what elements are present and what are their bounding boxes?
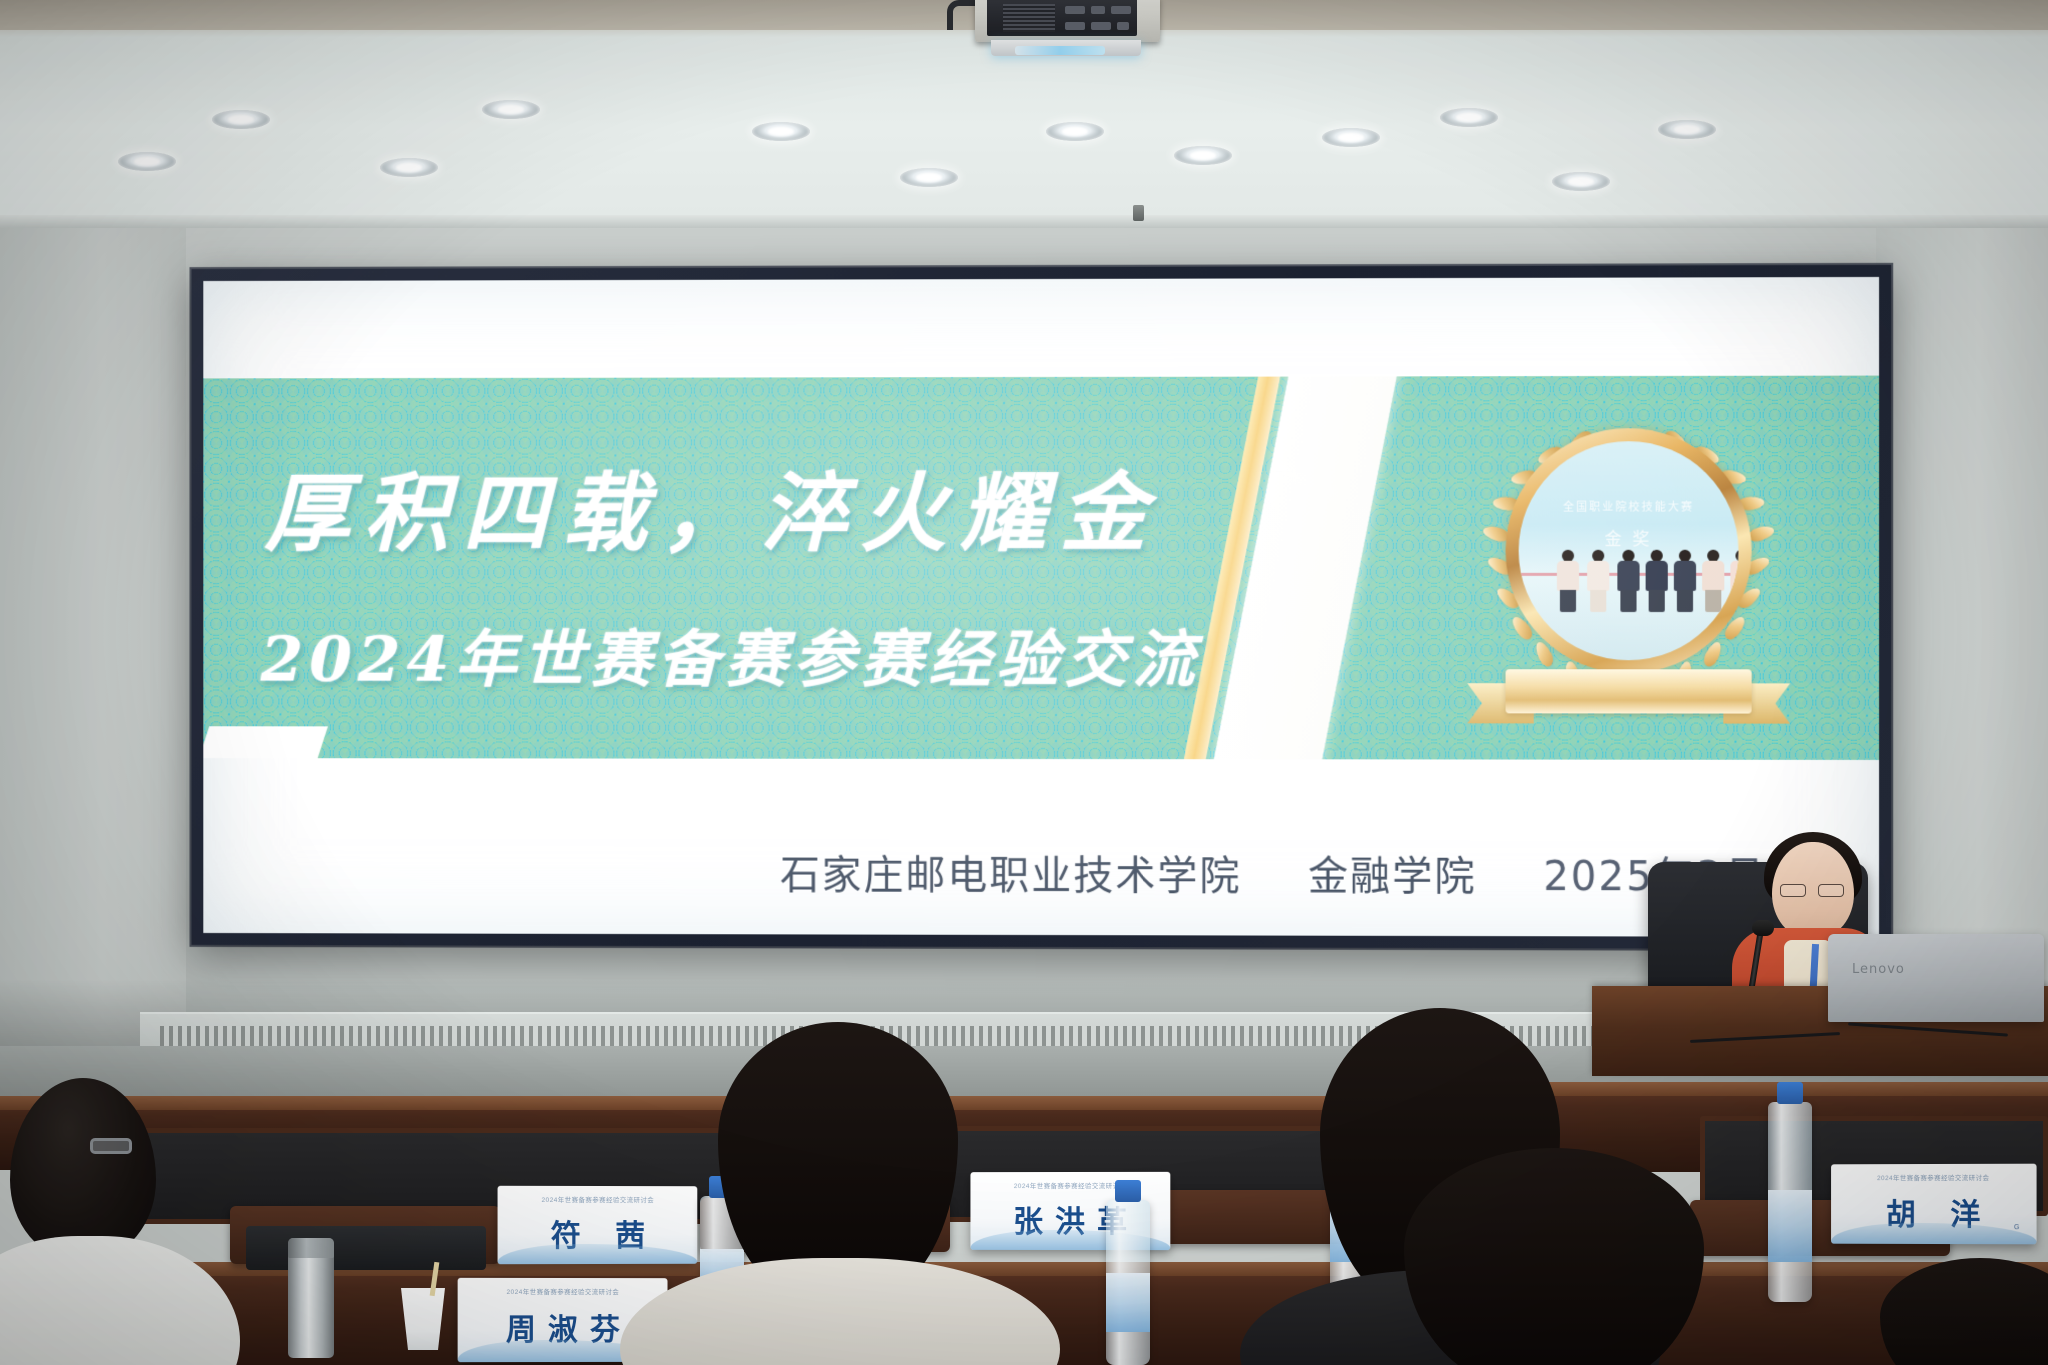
team-member bbox=[1646, 550, 1668, 612]
slide-title: 厚积四载，淬火耀金 bbox=[265, 443, 1201, 568]
projector-port bbox=[1065, 6, 1085, 14]
recessed-downlight bbox=[212, 110, 270, 129]
team-photo-caption-top: 全国职业院校技能大赛 bbox=[1519, 498, 1739, 514]
team-member bbox=[1617, 550, 1639, 612]
team-member bbox=[1702, 550, 1724, 612]
bottle-cap bbox=[1777, 1082, 1803, 1104]
bottle-cap bbox=[1115, 1180, 1141, 1202]
glasses-icon bbox=[1780, 884, 1846, 897]
recessed-downlight bbox=[118, 152, 176, 171]
projector-port bbox=[1117, 22, 1129, 30]
water-bottle bbox=[1768, 1102, 1812, 1302]
recessed-downlight bbox=[1552, 172, 1610, 191]
glasses-icon bbox=[90, 1138, 132, 1154]
projector-port bbox=[1111, 6, 1131, 14]
recessed-downlight bbox=[482, 100, 540, 119]
thermos-cap bbox=[288, 1238, 334, 1258]
slide-surface: 厚积四载，淬火耀金 2024年世赛备赛参赛经验交流 bbox=[203, 277, 1879, 937]
nameplate-logo: G bbox=[2014, 1224, 2020, 1231]
nameplate-subtitle: 2024年世赛备赛参赛经验交流研讨会 bbox=[1839, 1173, 2028, 1183]
projector-vent bbox=[1003, 4, 1055, 32]
projector-port bbox=[1065, 22, 1085, 30]
nameplate-subtitle: 2024年世赛备赛参赛经验交流研讨会 bbox=[466, 1288, 659, 1297]
laurel-wreath-emblem: 全国职业院校技能大赛 金 奖 bbox=[1453, 394, 1804, 746]
recessed-downlight bbox=[1440, 108, 1498, 127]
audience-member-shoulders bbox=[0, 1236, 240, 1365]
recessed-downlight bbox=[380, 158, 438, 177]
banner-corner-accent bbox=[203, 726, 328, 760]
projector-top-panel bbox=[987, 0, 1137, 36]
laptop[interactable]: Lenovo bbox=[1828, 934, 2044, 1022]
ceiling-projector bbox=[975, 0, 1160, 58]
nameplate-subtitle: 2024年世赛备赛参赛经验交流研讨会 bbox=[506, 1195, 690, 1204]
recessed-downlight bbox=[1046, 122, 1104, 141]
recessed-downlight bbox=[900, 168, 958, 187]
team-photo: 全国职业院校技能大赛 金 奖 bbox=[1519, 441, 1739, 660]
emblem-ribbon bbox=[1467, 663, 1790, 719]
recessed-downlight bbox=[752, 122, 810, 141]
microphone-head bbox=[1752, 920, 1774, 936]
team-member bbox=[1587, 550, 1609, 612]
sprinkler-head bbox=[1133, 205, 1144, 221]
conference-room-scene: 厚积四载，淬火耀金 2024年世赛备赛参赛经验交流 bbox=[0, 0, 2048, 1365]
slide-subtitle: 2024年世赛备赛参赛经验交流 bbox=[261, 609, 1257, 699]
nameplate: 2024年世赛备赛参赛经验交流研讨会 符 茜 bbox=[498, 1186, 698, 1264]
projector-port bbox=[1091, 22, 1111, 30]
laptop-brand-label: Lenovo bbox=[1852, 962, 1905, 977]
audience-member-hair bbox=[1404, 1148, 1704, 1365]
projector-port bbox=[1091, 6, 1105, 14]
projection-screen[interactable]: 厚积四载，淬火耀金 2024年世赛备赛参赛经验交流 bbox=[191, 265, 1891, 949]
bottle-label bbox=[1768, 1190, 1812, 1262]
recessed-downlight bbox=[1658, 120, 1716, 139]
wall-left-column bbox=[0, 228, 186, 1048]
recessed-downlight bbox=[1174, 146, 1232, 165]
team-photo-caption-main: 金 奖 bbox=[1519, 524, 1739, 549]
bottle-label bbox=[1106, 1273, 1150, 1332]
ribbon-band bbox=[1506, 669, 1752, 713]
steel-thermos bbox=[288, 1238, 334, 1358]
water-bottle bbox=[1106, 1200, 1150, 1365]
projector-lens bbox=[1015, 46, 1105, 55]
wreath-ring: 全国职业院校技能大赛 金 奖 bbox=[1506, 428, 1752, 673]
slide-banner: 厚积四载，淬火耀金 2024年世赛备赛参赛经验交流 bbox=[203, 376, 1879, 760]
slide-footer: 石家庄邮电职业技术学院 金融学院 2025年3月 bbox=[203, 842, 1879, 903]
footer-institution: 石家庄邮电职业技术学院 bbox=[780, 843, 1242, 902]
recessed-downlight bbox=[1322, 128, 1380, 147]
footer-department: 金融学院 bbox=[1308, 843, 1477, 901]
nameplate: 2024年世赛备赛参赛经验交流研讨会 胡 洋 G bbox=[1831, 1164, 2037, 1245]
audience-chair-seat bbox=[246, 1226, 486, 1270]
wall-vent-louvers bbox=[160, 1026, 1780, 1048]
team-member bbox=[1674, 550, 1696, 612]
wall-right-column bbox=[1876, 228, 2048, 1048]
projector-body bbox=[975, 0, 1160, 42]
team-member bbox=[1557, 550, 1579, 612]
